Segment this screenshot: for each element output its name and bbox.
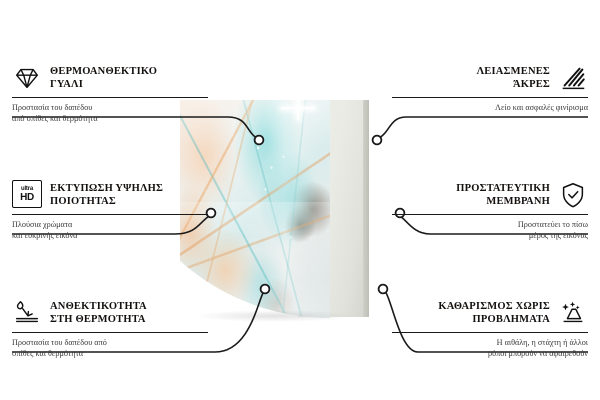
feature-title: ΕΚΤΥΠΩΣΗ ΥΨΗΛΗΣ ΠΟΙΟΤΗΤΑΣ — [50, 182, 163, 208]
ultra-hd-line2: HD — [20, 193, 34, 203]
feature-high-quality-print: ultra HD ΕΚΤΥΠΩΣΗ ΥΨΗΛΗΣ ΠΟΙΟΤΗΤΑΣ Πλούσ… — [12, 179, 208, 241]
shield-check-icon — [558, 180, 588, 210]
diamond-icon — [12, 63, 42, 93]
feature-head: ΛΕΙΑΣΜΕΝΕΣ ΆΚΡΕΣ — [392, 62, 588, 94]
feature-divider — [392, 97, 588, 98]
feature-protective-membrane: ΠΡΟΣΤΑΤΕΥΤΙΚΗ ΜΕΜΒΡΑΝΗ Προστατεύει το πί… — [392, 179, 588, 241]
feature-divider — [392, 332, 588, 333]
feature-divider — [12, 332, 208, 333]
infographic-root: ΘΕΡΜΟΑΝΘΕΚΤΙΚΟ ΓΥΑΛΙ Προστασία του δαπέδ… — [0, 0, 600, 400]
feature-heat-durability: ΑΝΘΕΚΤΙΚΟΤΗΤΑ ΣΤΗ ΘΕΡΜΟΤΗΤΑ Προστασία το… — [12, 297, 208, 359]
ultra-hd-icon: ultra HD — [12, 180, 42, 210]
polished-edges-icon — [558, 63, 588, 93]
feature-head: ultra HD ΕΚΤΥΠΩΣΗ ΥΨΗΛΗΣ ΠΟΙΟΤΗΤΑΣ — [12, 179, 208, 211]
feature-description: Προστατεύει το πίσω μέρος της εικόνας — [392, 219, 588, 241]
feature-title: ΑΝΘΕΚΤΙΚΟΤΗΤΑ ΣΤΗ ΘΕΡΜΟΤΗΤΑ — [50, 300, 147, 326]
easy-cleaning-icon — [558, 298, 588, 328]
feature-head: ΑΝΘΕΚΤΙΚΟΤΗΤΑ ΣΤΗ ΘΕΡΜΟΤΗΤΑ — [12, 297, 208, 329]
product-shadow — [194, 310, 354, 322]
feature-description: Προστασία του δαπέδου από σπίθες και θερ… — [12, 102, 208, 124]
feature-description: Λείο και ασφαλές φινίρισμα — [392, 102, 588, 113]
feature-description: Η αιθάλη, η στάχτη ή άλλοι ρύποι μπορούν… — [392, 337, 588, 359]
feature-title: ΚΑΘΑΡΙΣΜΟΣ ΧΩΡΙΣ ΠΡΟΒΛΗΜΑΤΑ — [438, 300, 550, 326]
feature-description: Πλούσια χρώματα και ευκρινής εικόνα — [12, 219, 208, 241]
heat-resistance-icon — [12, 298, 42, 328]
feature-divider — [12, 214, 208, 215]
panel-back-edge — [363, 100, 369, 317]
feature-polished-edges: ΛΕΙΑΣΜΕΝΕΣ ΆΚΡΕΣ Λείο και ασφαλές φινίρι… — [392, 62, 588, 113]
feature-title: ΠΡΟΣΤΑΤΕΥΤΙΚΗ ΜΕΜΒΡΑΝΗ — [456, 182, 550, 208]
feature-divider — [12, 97, 208, 98]
feature-title: ΛΕΙΑΣΜΕΝΕΣ ΆΚΡΕΣ — [477, 65, 550, 91]
ultra-hd-line1: ultra — [21, 186, 33, 192]
feature-easy-cleaning: ΚΑΘΑΡΙΣΜΟΣ ΧΩΡΙΣ ΠΡΟΒΛΗΜΑΤΑ Η αιθάλη, η … — [392, 297, 588, 359]
connector-right-1 — [379, 117, 588, 138]
feature-description: Προστασία του δαπέδου από σπίθες και θερ… — [12, 337, 208, 359]
product-image — [180, 88, 410, 318]
feature-heat-resistant-glass: ΘΕΡΜΟΑΝΘΕΚΤΙΚΟ ΓΥΑΛΙ Προστασία του δαπέδ… — [12, 62, 208, 124]
feature-divider — [392, 214, 588, 215]
feature-title: ΘΕΡΜΟΑΝΘΕΚΤΙΚΟ ΓΥΑΛΙ — [50, 65, 157, 91]
feature-head: ΠΡΟΣΤΑΤΕΥΤΙΚΗ ΜΕΜΒΡΑΝΗ — [392, 179, 588, 211]
feature-head: ΚΑΘΑΡΙΣΜΟΣ ΧΩΡΙΣ ΠΡΟΒΛΗΜΑΤΑ — [392, 297, 588, 329]
feature-head: ΘΕΡΜΟΑΝΘΕΚΤΙΚΟ ΓΥΑΛΙ — [12, 62, 208, 94]
